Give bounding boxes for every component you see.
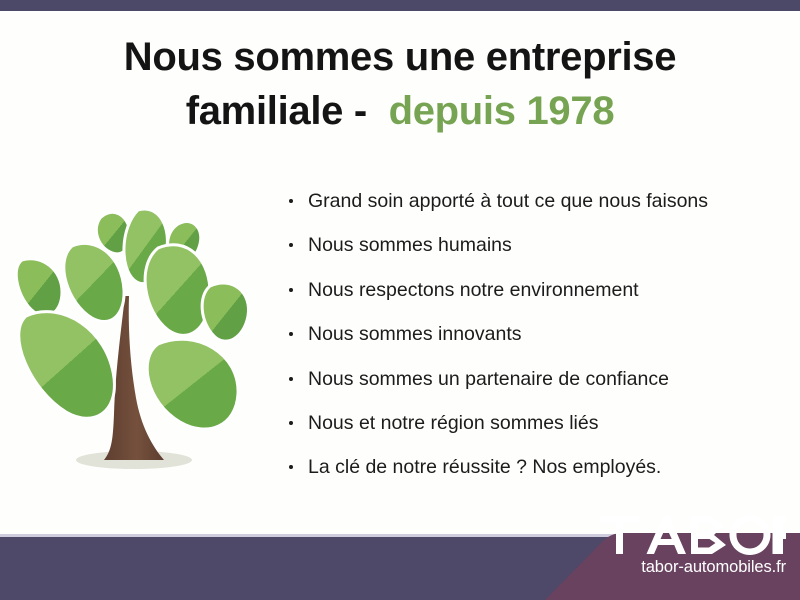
list-item: Nous sommes innovants (286, 323, 766, 346)
list-item-label: Nous et notre région sommes liés (308, 412, 598, 434)
bullet-dot-icon (289, 199, 293, 203)
list-item: Nous sommes un partenaire de confiance (286, 368, 766, 391)
top-accent-bar (0, 0, 800, 11)
bullet-dot-icon (289, 243, 293, 247)
logo-panel: tabor-automobiles.fr (530, 505, 800, 600)
logo-tagline: tabor-automobiles.fr (586, 558, 786, 577)
page-title-accent: depuis 1978 (389, 89, 615, 133)
list-item-label: Grand soin apporté à tout ce que nous fa… (308, 190, 708, 212)
list-item-label: Nous sommes un partenaire de confiance (308, 368, 669, 390)
list-item: Nous respectons notre environnement (286, 279, 766, 302)
list-item-label: La clé de notre réussite ? Nos employés. (308, 456, 661, 478)
list-item: La clé de notre réussite ? Nos employés. (286, 456, 766, 479)
value-list: Grand soin apporté à tout ce que nous fa… (286, 190, 766, 480)
bullet-dot-icon (289, 377, 293, 381)
list-item: Grand soin apporté à tout ce que nous fa… (286, 190, 766, 213)
slide-canvas: Nous sommes une entreprise familiale - d… (0, 0, 800, 600)
tabor-wordmark (586, 515, 786, 555)
page-title-line-1: Nous sommes une entreprise (0, 30, 800, 84)
bullet-dot-icon (289, 465, 293, 469)
page-title-line-2-plain: familiale - (186, 89, 389, 133)
bullet-dot-icon (289, 421, 293, 425)
list-item: Nous sommes humains (286, 234, 766, 257)
tree-illustration (12, 188, 270, 490)
bullet-dot-icon (289, 288, 293, 292)
list-item: Nous et notre région sommes liés (286, 412, 766, 435)
bullet-dot-icon (289, 332, 293, 336)
page-title-line-2: familiale - depuis 1978 (0, 84, 800, 138)
page-title: Nous sommes une entreprise familiale - d… (0, 30, 800, 139)
list-item-label: Nous sommes innovants (308, 323, 522, 345)
list-item-label: Nous respectons notre environnement (308, 279, 639, 301)
logo-lockup: tabor-automobiles.fr (586, 515, 786, 577)
list-item-label: Nous sommes humains (308, 234, 512, 256)
